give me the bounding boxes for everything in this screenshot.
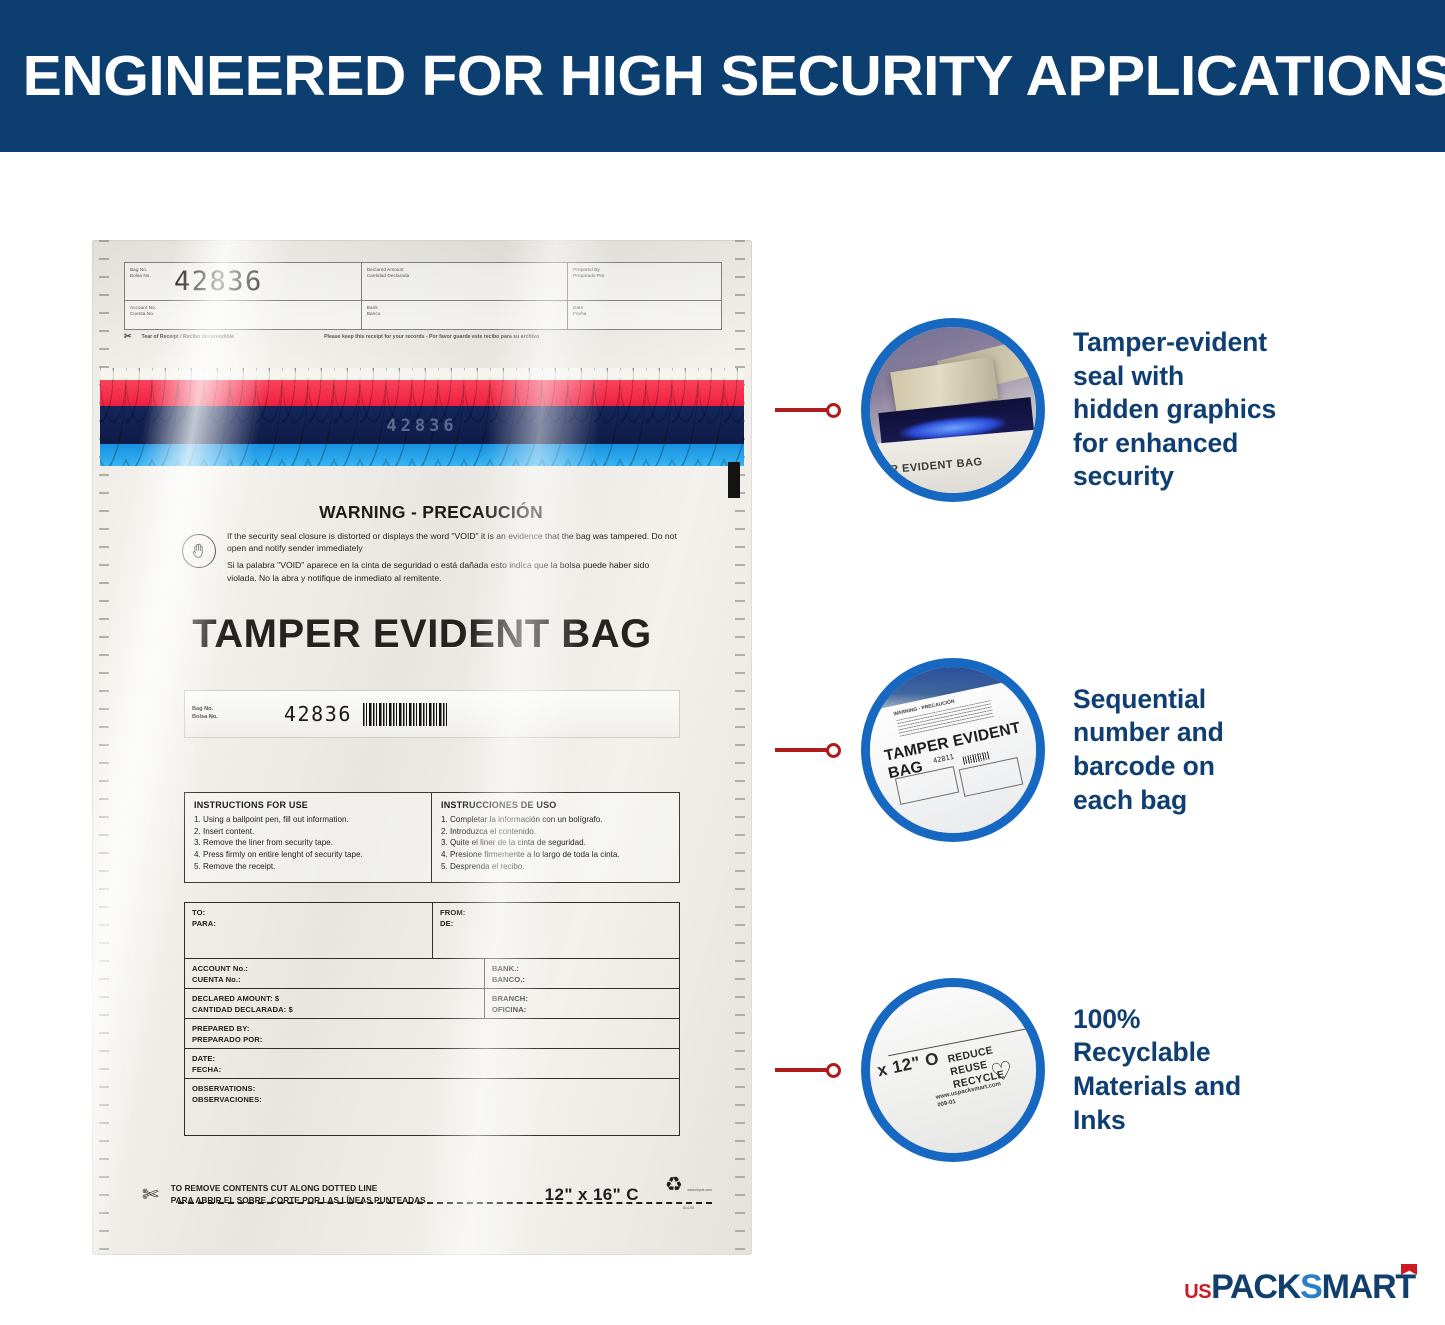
instructions-block: INSTRUCTIONS FOR USE 1. Using a ballpoin… — [184, 792, 680, 883]
form-field-observations: OBSERVATIONS: OBSERVACIONES: — [185, 1079, 679, 1135]
form-field-prepared-by: PREPARED BY: PREPARADO POR: — [185, 1019, 679, 1048]
header-banner: ENGINEERED FOR HIGH SECURITY APPLICATION… — [0, 0, 1445, 152]
receipt-cell-date: Date Fecha — [568, 301, 721, 329]
form-label-observations: OBSERVATIONS: OBSERVACIONES: — [192, 1084, 672, 1106]
instruction-step: 4. Presione firmemente a lo largo de tod… — [441, 849, 670, 861]
connector-1 — [775, 403, 861, 418]
seal-liner-tab — [728, 462, 740, 498]
connector-2 — [775, 743, 861, 758]
form-label-declared-amount: DECLARED AMOUNT: $ CANTIDAD DECLARADA: $ — [192, 994, 477, 1016]
form-field-declared-amount: DECLARED AMOUNT: $ CANTIDAD DECLARADA: $ — [185, 989, 484, 1018]
warning-text-english: If the security seal closure is distorte… — [227, 530, 680, 554]
receipt-footer-center: Please keep this receipt for your record… — [324, 334, 539, 340]
callout-label-3: 100% Recyclable Materials and Inks — [1073, 1003, 1241, 1138]
instructions-spanish-heading: INSTRUCCIONES DE USO — [441, 800, 670, 810]
instruction-step: 5. Remove the receipt. — [194, 861, 422, 873]
receipt-cell-declared-amount: Declared Amount Cantidad Declarada — [362, 263, 568, 301]
form-label-bank: BANK.: BANCO.: — [492, 964, 672, 986]
form-field-from: FROM: DE: — [432, 903, 679, 958]
bag-number-label: Bag No. Bolsa No. — [192, 706, 218, 721]
cut-line-zone: ✄ TO REMOVE CONTENTS CUT ALONG DOTTED LI… — [142, 1175, 712, 1214]
form-field-bank: BANK.: BANCO.: — [484, 959, 679, 988]
callout-recyclable: x 12" O REDUCE REUSE RECYCLE ♡ www.uspac… — [775, 978, 1241, 1162]
brand-logo: US PACK S MART — [1184, 1268, 1415, 1307]
callout-sequential-number: WARNING - PRECAUCIÓN TAMPER EVIDENT BAG … — [775, 658, 1224, 842]
callout-label-2: Sequential number and barcode on each ba… — [1073, 683, 1224, 818]
seal-serial-number: 42836 — [386, 416, 457, 436]
dotted-cut-line — [178, 1202, 712, 1204]
connector-dot-icon — [826, 403, 841, 418]
logo-pack: PACK — [1211, 1268, 1300, 1307]
receipt-cell-prepared-by: Prepared By Preparado Por — [568, 263, 721, 301]
bag-number-value: 42836 — [284, 702, 352, 726]
form-label-date: DATE: FECHA: — [192, 1054, 672, 1076]
instruction-step: 5. Desprenda el recibo. — [441, 861, 670, 873]
receipt-label-date: Date Fecha — [573, 305, 586, 317]
receipt-cell-account-no: Account No. Cuenta No. — [125, 301, 362, 329]
callout-photo-barcode-bag: WARNING - PRECAUCIÓN TAMPER EVIDENT BAG … — [861, 658, 1045, 842]
scissors-icon: ✄ — [142, 1185, 159, 1205]
receipt-footer-left: Tear of Receipt / Recibo desprendible — [142, 334, 234, 340]
warning-block: WARNING - PRECAUCIÓN If the security sea… — [182, 502, 680, 584]
connector-line — [775, 748, 827, 752]
form-field-branch: BRANCH: OFICINA: — [484, 989, 679, 1018]
connector-3 — [775, 1063, 861, 1078]
form-row-observations: OBSERVATIONS: OBSERVACIONES: — [185, 1079, 679, 1135]
receipt-label-account-no: Account No. Cuenta No. — [130, 305, 156, 317]
connector-dot-icon — [826, 743, 841, 758]
form-label-branch: BRANCH: OFICINA: — [492, 994, 672, 1016]
form-row-to-from: TO: PARA: FROM: DE: — [185, 903, 679, 959]
receipt-label-bag-no: Bag No. Bolsa No. — [130, 267, 151, 279]
instruction-step: 4. Press firmly on entire lenght of secu… — [194, 849, 422, 861]
form-row-amount-branch: DECLARED AMOUNT: $ CANTIDAD DECLARADA: $… — [185, 989, 679, 1019]
hand-icon — [182, 534, 216, 568]
instructions-spanish: INSTRUCCIONES DE USO 1. Completar la inf… — [432, 793, 679, 882]
instructions-english-heading: INSTRUCTIONS FOR USE — [194, 800, 422, 810]
instruction-step: 3. Remove the liner from security tape. — [194, 837, 422, 849]
recycle-subtext: www.iicycle.com 814-00 — [683, 1188, 712, 1210]
form-field-date: DATE: FECHA: — [185, 1049, 679, 1078]
bag-number-strip: Bag No. Bolsa No. 42836 — [184, 690, 680, 738]
logo-mart: MART — [1322, 1268, 1415, 1307]
recycle-icon: ♻ — [665, 1174, 683, 1196]
barcode-icon — [363, 703, 449, 726]
warning-text: If the security seal closure is distorte… — [227, 530, 680, 584]
connector-line — [775, 408, 827, 412]
warning-title: WARNING - PRECAUCIÓN — [182, 502, 680, 523]
scissors-icon-small: ✂ — [124, 332, 132, 341]
receipt-label-prepared-by: Prepared By Preparado Por — [573, 267, 604, 279]
receipt-label-bank: Bank Banco — [367, 305, 381, 317]
form-label-account: ACCOUNT No.: CUENTA No.: — [192, 964, 477, 986]
receipt-footer: ✂ Tear of Receipt / Recibo desprendible … — [124, 332, 722, 341]
receipt-stub: Bag No. Bolsa No. 42836 Declared Amount … — [124, 262, 722, 330]
instructions-english: INSTRUCTIONS FOR USE 1. Using a ballpoin… — [185, 793, 432, 882]
receipt-label-declared-amount: Declared Amount Cantidad Declarada — [367, 267, 409, 279]
logo-s: S — [1300, 1268, 1321, 1307]
warning-text-spanish: Si la palabra "VOID" aparece en la cinta… — [227, 559, 680, 583]
instruction-step: 1. Using a ballpoint pen, fill out infor… — [194, 814, 422, 826]
banner-title: ENGINEERED FOR HIGH SECURITY APPLICATION… — [0, 43, 1445, 109]
form-row-prepared-by: PREPARED BY: PREPARADO POR: — [185, 1019, 679, 1049]
instruction-step: 2. Introduzca el contenido. — [441, 826, 670, 838]
receipt-value-bag-no: 42836 — [174, 266, 263, 297]
form-fields-block: TO: PARA: FROM: DE: ACCOUNT No.: CUENTA … — [184, 902, 680, 1136]
logo-us: US — [1184, 1281, 1211, 1304]
instruction-step: 2. Insert content. — [194, 826, 422, 838]
receipt-cell-bag-no: Bag No. Bolsa No. 42836 — [125, 263, 362, 301]
instruction-step: 1. Completar la información con un bolíg… — [441, 814, 670, 826]
callout-label-1: Tamper-evident seal with hidden graphics… — [1073, 326, 1276, 494]
callout-tamper-evident-seal: R EVIDENT BAG Tamper-evident seal with h… — [775, 318, 1276, 502]
form-label-to: TO: PARA: — [192, 908, 425, 930]
connector-line — [775, 1068, 827, 1072]
form-row-account-bank: ACCOUNT No.: CUENTA No.: BANK.: BANCO.: — [185, 959, 679, 989]
receipt-cell-bank: Bank Banco — [362, 301, 568, 329]
instruction-step: 3. Quite el liner de la cinta de segurid… — [441, 837, 670, 849]
form-label-from: FROM: DE: — [440, 908, 672, 930]
bag-main-title: TAMPER EVIDENT BAG — [92, 612, 752, 657]
form-row-date: DATE: FECHA: — [185, 1049, 679, 1079]
form-label-prepared-by: PREPARED BY: PREPARADO POR: — [192, 1024, 672, 1046]
logo-mart-text: MART — [1322, 1268, 1415, 1306]
product-photo-bag: Bag No. Bolsa No. 42836 Declared Amount … — [92, 240, 752, 1255]
callout-photo-size: x 12" O — [875, 1049, 940, 1082]
recycle-mark: ♻ www.iicycle.com 814-00 — [665, 1175, 712, 1214]
connector-dot-icon — [826, 1063, 841, 1078]
security-tape-seal: 42836 — [100, 368, 744, 466]
form-field-account: ACCOUNT No.: CUENTA No.: — [185, 959, 484, 988]
callout-photo-recycle: x 12" O REDUCE REUSE RECYCLE ♡ www.uspac… — [861, 978, 1045, 1162]
form-field-to: TO: PARA: — [185, 903, 432, 958]
callout-photo-uv-seal: R EVIDENT BAG — [861, 318, 1045, 502]
